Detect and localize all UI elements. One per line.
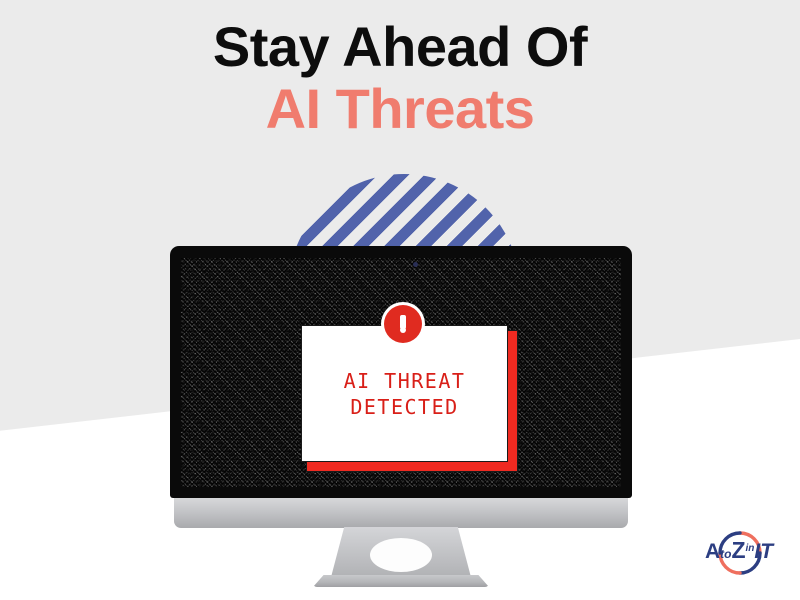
threat-alert-dialog[interactable]: AI THREAT DETECTED [301,325,513,467]
logo-wordmark: AtoZinIT [689,539,789,562]
logo-word-it: IT [754,540,773,563]
alert-text-line-2: DETECTED [350,397,458,417]
monitor-stand-base [313,575,489,587]
logo-word-to: to [720,547,731,561]
exclamation-circle-fill [384,305,422,343]
monitor-screen-static: AI THREAT DETECTED [181,258,621,487]
exclamation-dot [400,327,406,333]
headline-accent: AI Threats [0,77,800,141]
desktop-monitor: AI THREAT DETECTED [170,246,632,586]
alert-text-line-1: AI THREAT [344,371,466,391]
poster-canvas: Stay Ahead Of AI Threats AI THREAT DETEC… [0,0,800,600]
exclamation-circle-icon [381,302,425,346]
monitor-bezel: AI THREAT DETECTED [170,246,632,498]
monitor-stand-cutout [370,538,432,572]
monitor-chin-bar [174,498,628,528]
webcam-icon [413,262,418,267]
headline-primary: Stay Ahead Of [0,18,800,77]
headline-block: Stay Ahead Of AI Threats [0,18,800,141]
logo-letter-z: Z [731,537,745,563]
logo-letter-a: A [705,540,720,563]
brand-logo[interactable]: AtoZinIT [689,526,789,580]
